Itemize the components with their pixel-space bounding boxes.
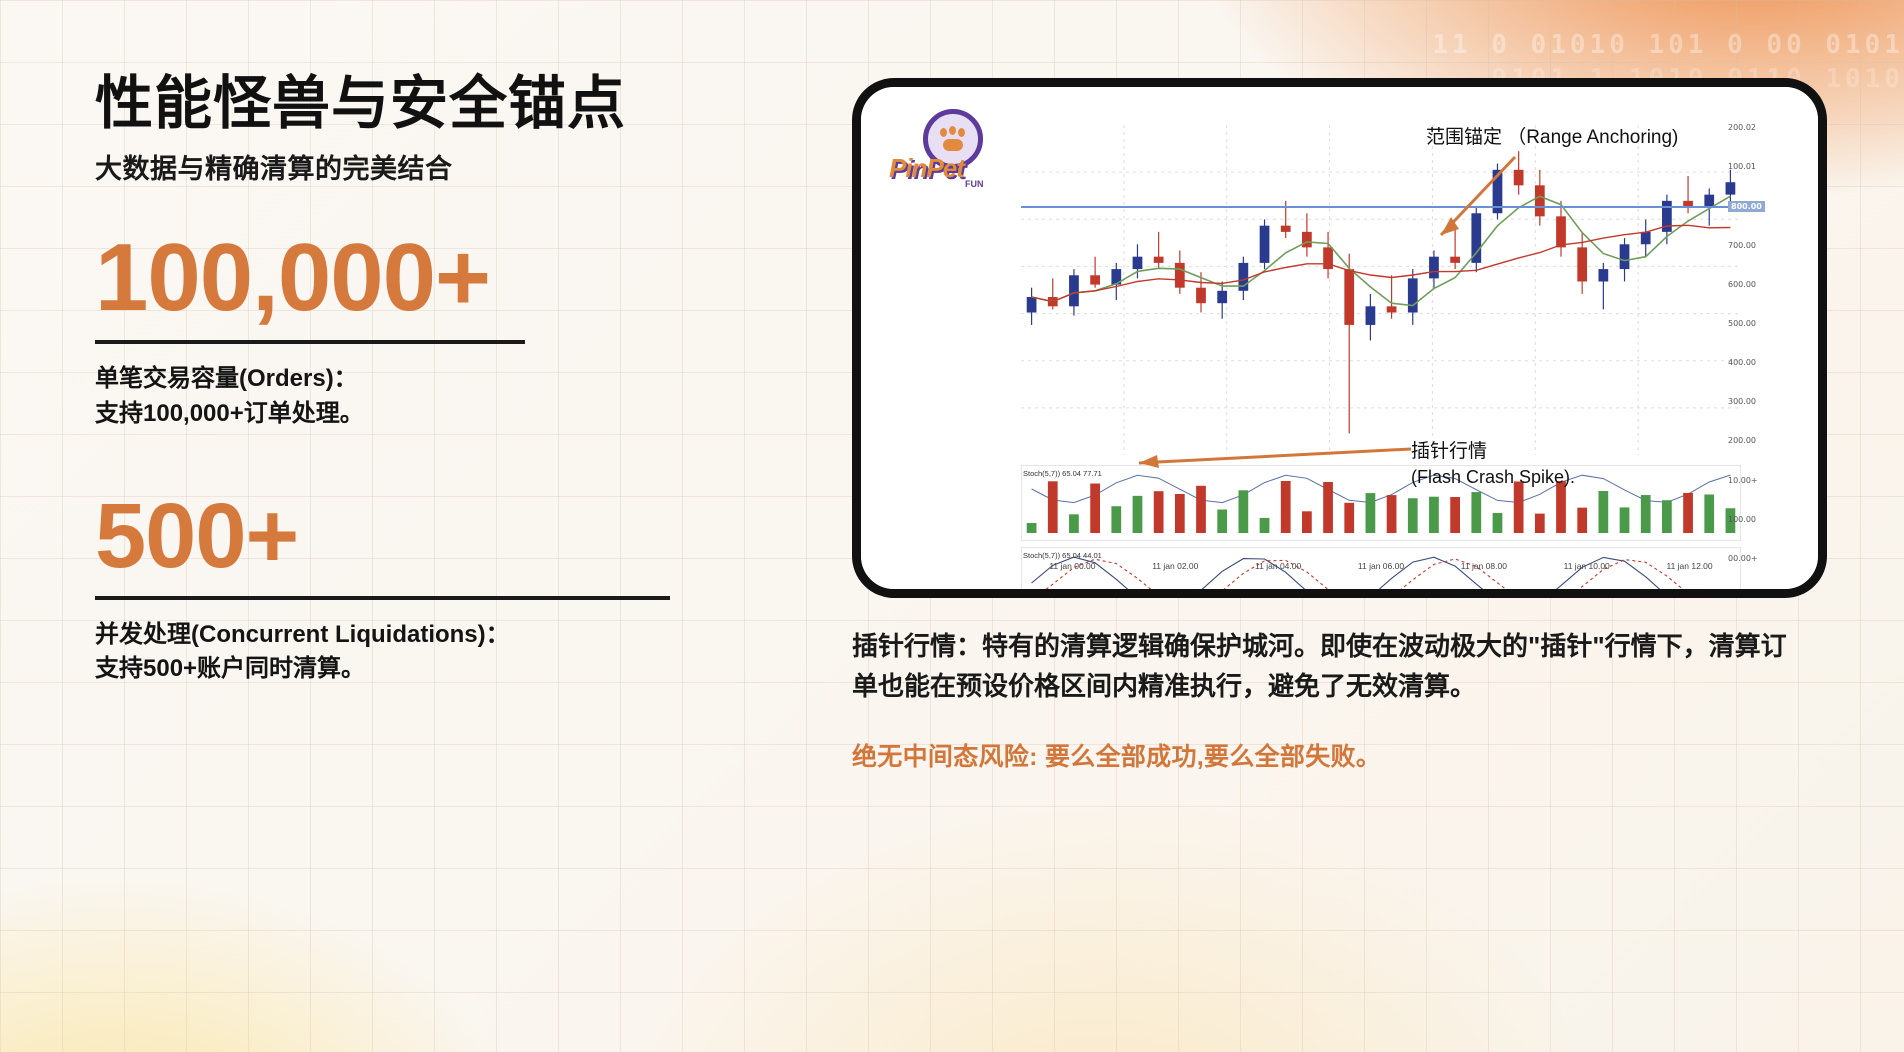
price-plot-svg <box>1021 125 1741 455</box>
annotation-range-anchoring: 范围锚定 （Range Anchoring) <box>1426 125 1678 151</box>
time-tick: 11 jan 08.00 <box>1461 561 1507 571</box>
page-subtitle: 大数据与精确清算的完美结合 <box>95 147 755 186</box>
caption-lead: 插针行情： <box>852 631 982 661</box>
price-tick: 200.02 <box>1728 123 1756 132</box>
price-tick: 200.00 <box>1728 436 1756 445</box>
page-title: 性能怪兽与安全锚点 <box>95 72 755 137</box>
chart-card: PinPet FUN <box>852 78 1827 598</box>
chart-caption: 插针行情：特有的清算逻辑确保护城河。即使在波动极大的"插针"行情下，清算订单也能… <box>852 626 1802 707</box>
price-tick: 300.00 <box>1728 397 1756 406</box>
price-panel <box>1021 125 1741 455</box>
left-column: 性能怪兽与安全锚点 大数据与精确清算的完美结合 100,000+ 单笔交易容量(… <box>95 72 755 687</box>
pinpet-logo: PinPet FUN <box>889 109 1017 205</box>
volume-plot-svg <box>1021 465 1741 541</box>
time-tick: 11 jan 02.00 <box>1152 561 1198 571</box>
time-tick: 11 jan 12.00 <box>1666 561 1712 571</box>
caption-accent: 绝无中间态风险: 要么全部成功,要么全部失败。 <box>852 737 1832 773</box>
logo-wordmark: PinPet <box>889 153 964 184</box>
paw-icon <box>940 128 966 150</box>
slide-root: 11 0 01010 101 0 00 0101 0101 1 1010 011… <box>0 0 1904 1052</box>
oscillator-panel-label: Stoch(5,7)) 65.04 44.01 <box>1023 551 1102 560</box>
time-tick: 11 jan 06.00 <box>1358 561 1404 571</box>
stat-desc-line-1: 并发处理(Concurrent Liquidations)： <box>95 618 755 653</box>
stat-description-orders: 单笔交易容量(Orders)： 支持100,000+订单处理。 <box>95 362 755 432</box>
price-tick: 10.00+ <box>1728 476 1758 485</box>
binary-row-1: 11 0 01010 101 0 00 0101 <box>1104 28 1904 62</box>
stat-desc-line-2: 支持100,000+订单处理。 <box>95 397 755 432</box>
price-tick: 800.00 <box>1728 201 1765 212</box>
price-tick: 100.01 <box>1728 162 1756 171</box>
time-tick: 11 jan 10.00 <box>1564 561 1610 571</box>
annotation-flash-crash-cn: 插针行情 <box>1411 439 1575 465</box>
stat-divider-orders <box>95 340 525 344</box>
price-tick: 700.00 <box>1728 241 1756 250</box>
price-tick: 100.00 <box>1728 515 1756 524</box>
logo-subtext: FUN <box>965 179 984 189</box>
annotation-flash-crash: 插针行情 (Flash Crash Spike). <box>1411 439 1575 489</box>
volume-panel-label: Stoch(5,7)) 65.04 77.71 <box>1023 469 1102 478</box>
stat-desc-line-2: 支持500+账户同时清算。 <box>95 652 755 687</box>
time-tick: 11 jan 04.00 <box>1255 561 1301 571</box>
price-tick: 600.00 <box>1728 280 1756 289</box>
time-tick: 11 jan 00.00 <box>1049 561 1095 571</box>
stat-divider-liquidations <box>95 596 670 600</box>
right-column: PinPet FUN <box>852 78 1832 773</box>
annotation-flash-crash-en: (Flash Crash Spike). <box>1411 465 1575 489</box>
stat-description-liquidations: 并发处理(Concurrent Liquidations)： 支持500+账户同… <box>95 618 755 688</box>
time-axis: 11 jan 00.0011 jan 02.0011 jan 04.0011 j… <box>1021 561 1741 575</box>
stat-value-orders: 100,000+ <box>95 230 755 326</box>
stat-value-liquidations: 500+ <box>95 490 755 582</box>
stat-desc-line-1: 单笔交易容量(Orders)： <box>95 362 755 397</box>
price-axis: 200.02100.01800.00700.00600.00500.00400.… <box>1728 123 1806 598</box>
price-tick: 500.00 <box>1728 319 1756 328</box>
volume-panel <box>1021 465 1741 541</box>
stat-block-liquidations: 500+ 并发处理(Concurrent Liquidations)： 支持50… <box>95 490 755 688</box>
price-tick: 400.00 <box>1728 358 1756 367</box>
caption-body: 特有的清算逻辑确保护城河。即使在波动极大的"插针"行情下，清算订单也能在预设价格… <box>852 631 1787 701</box>
stat-block-orders: 100,000+ 单笔交易容量(Orders)： 支持100,000+订单处理。 <box>95 230 755 432</box>
price-tick: 00.00 <box>1728 593 1751 598</box>
chart-canvas: PinPet FUN <box>861 87 1818 589</box>
